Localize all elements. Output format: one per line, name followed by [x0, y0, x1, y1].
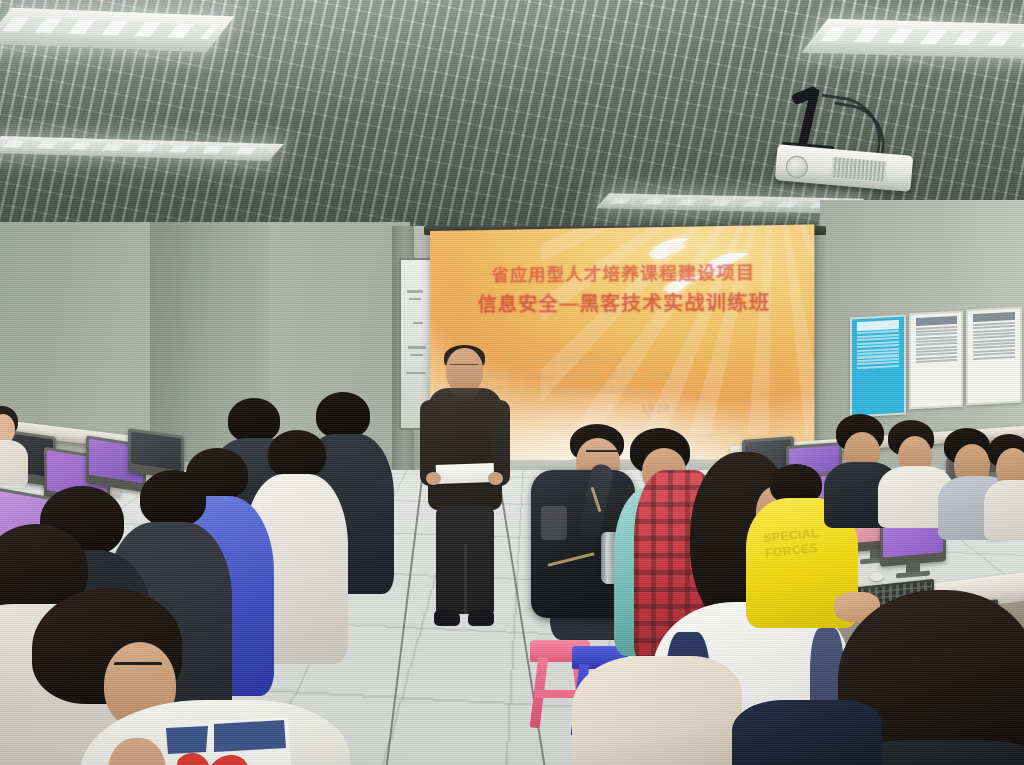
notice-board-blue: [850, 315, 906, 418]
projector-vent: [831, 157, 887, 182]
classroom-photo: 省应用型人才培养课程建设项目 信息安全—黑客技术实战训练班 时 间：2018年1…: [0, 0, 1024, 765]
screen-detail-line-3: 支持单位：广州市德信息科技有限公司: [474, 382, 798, 398]
yellow-tee-print: SPECIAL FORCES: [763, 525, 831, 593]
ceiling-projector: [770, 88, 930, 188]
notice-board-white-2: [966, 307, 1022, 406]
presenter-leg-split: [464, 544, 467, 614]
presenter-left-shoe: [434, 610, 460, 626]
presenter-left-hand: [426, 472, 441, 485]
backpack-zipper: [547, 552, 594, 567]
fluorescent-light-top-right: [801, 19, 1024, 60]
standing-presenter: [414, 348, 514, 638]
screen-detail-line-1: 时 间：2018年10月20-21日: [474, 352, 798, 367]
backpack-student-glasses-icon: [586, 450, 620, 460]
screen-detail-line-2: 授课老师：陈瑞红、林振聪、黄东东、谭瑞: [474, 367, 798, 382]
screen-title-line-2: 信息安全—黑客技术实战训练班: [445, 286, 807, 316]
mouse-right-2: [870, 572, 883, 581]
presenter-right-hand: [488, 472, 503, 485]
backpack-logo: [541, 506, 567, 540]
screen-title-line-1: 省应用型人才培养课程建设项目: [445, 257, 807, 287]
projector-body: [775, 144, 914, 192]
presenter-handout: [436, 463, 495, 484]
screen-watermark: 10.20: [640, 402, 669, 415]
tshirt-graphic: [148, 718, 298, 765]
presenter-glasses-icon: [450, 364, 478, 371]
projector-lens: [785, 155, 809, 179]
foreground-student-glasses-icon: [114, 662, 162, 674]
presenter-right-shoe: [468, 610, 494, 626]
notice-board-white-1: [909, 311, 963, 410]
